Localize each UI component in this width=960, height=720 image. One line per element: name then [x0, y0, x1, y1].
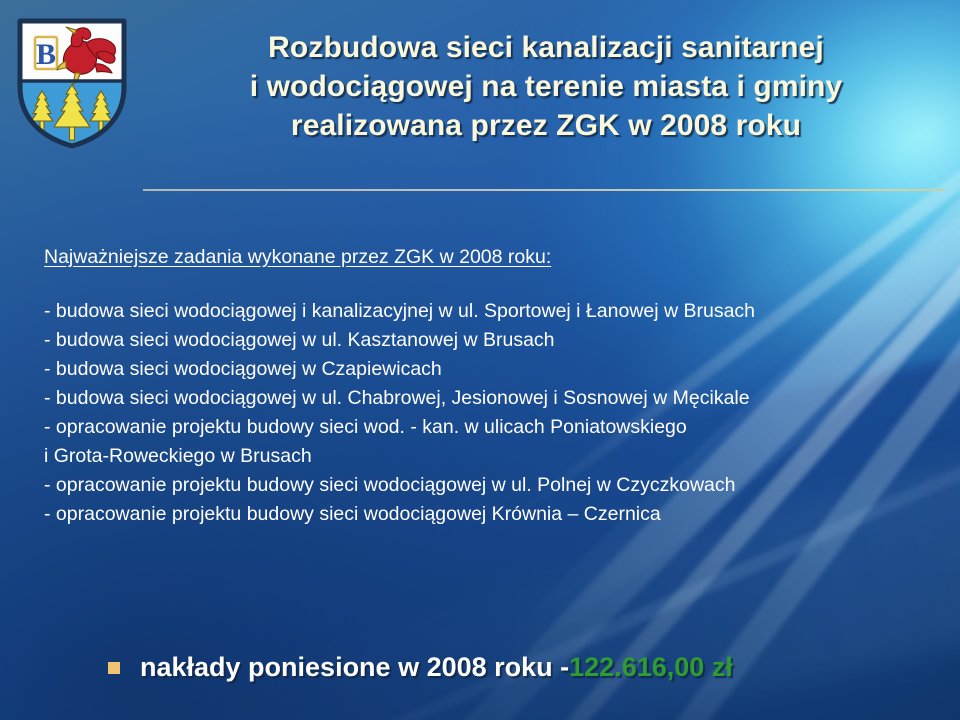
- body-content: Najważniejsze zadania wykonane przez ZGK…: [44, 243, 934, 529]
- square-bullet-icon: [108, 662, 120, 674]
- body-list-item: - budowa sieci wodociągowej w ul. Kaszta…: [44, 326, 934, 355]
- footer-amount-value: 122.616,00 zł: [569, 652, 733, 683]
- body-list-item: - budowa sieci wodociągowej w ul. Chabro…: [44, 384, 934, 413]
- footer-summary: nakłady poniesione w 2008 roku - 122.616…: [108, 652, 733, 683]
- body-list-item: - budowa sieci wodociągowej i kanalizacy…: [44, 297, 934, 326]
- body-list-item: - opracowanie projektu budowy sieci wodo…: [44, 500, 934, 529]
- coat-of-arms-icon: B: [16, 17, 128, 149]
- body-heading: Najważniejsze zadania wykonane przez ZGK…: [44, 243, 934, 272]
- slide-title: Rozbudowa sieci kanalizacji sanitarnej i…: [146, 28, 946, 145]
- body-list-item: - budowa sieci wodociągowej w Czapiewica…: [44, 355, 934, 384]
- title-divider: [143, 189, 945, 191]
- presentation-slide: B: [0, 0, 960, 720]
- svg-text:B: B: [36, 38, 56, 71]
- footer-label: nakłady poniesione w 2008 roku -: [140, 652, 569, 683]
- body-list-item: - opracowanie projektu budowy sieci wodo…: [44, 471, 934, 500]
- body-list-item: - opracowanie projektu budowy sieci wod.…: [44, 413, 934, 442]
- body-list-item-continuation: i Grota-Roweckiego w Brusach: [44, 442, 934, 471]
